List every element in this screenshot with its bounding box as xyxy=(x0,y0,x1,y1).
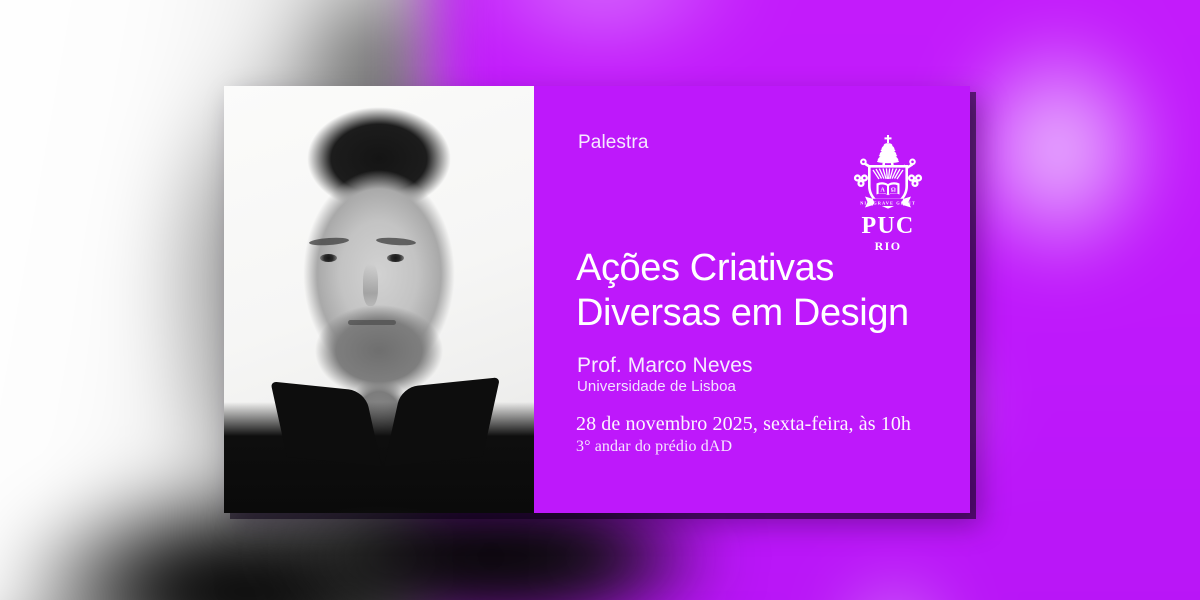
speaker-portrait-image xyxy=(224,86,534,513)
puc-rio-logo: A Ω NIL GRAVE GERIT PUC RIO xyxy=(840,134,936,254)
svg-text:Ω: Ω xyxy=(891,186,896,193)
speaker-affiliation: Universidade de Lisboa xyxy=(577,378,736,395)
puc-rio-subtitle: RIO xyxy=(840,239,936,254)
lecture-announcement-card: Palestra Ações Criativas Diversas em Des… xyxy=(224,86,970,513)
speaker-photo-pane xyxy=(224,86,534,513)
svg-text:A: A xyxy=(880,186,885,193)
speaker-name: Prof. Marco Neves xyxy=(577,354,753,378)
event-type-label: Palestra xyxy=(578,132,649,154)
lecture-title: Ações Criativas Diversas em Design xyxy=(576,246,909,336)
nose xyxy=(363,264,378,306)
eye-right xyxy=(387,254,404,262)
svg-text:NIL GRAVE GERIT: NIL GRAVE GERIT xyxy=(860,200,916,205)
mouth xyxy=(348,320,396,325)
shirt-collar-left xyxy=(270,381,381,466)
puc-wordmark: PUC xyxy=(840,214,936,238)
eyebrow-left xyxy=(309,237,349,247)
shirt-collar-right xyxy=(384,377,500,467)
event-date: 28 de novembro 2025, sexta-feira, às 10h xyxy=(576,413,911,436)
eye-left xyxy=(320,254,337,262)
card-content-pane: Palestra Ações Criativas Diversas em Des… xyxy=(534,86,970,513)
puc-crest-icon: A Ω NIL GRAVE GERIT xyxy=(840,134,936,212)
event-location: 3° andar do prédio dAD xyxy=(576,438,732,456)
eyebrow-right xyxy=(376,237,416,247)
